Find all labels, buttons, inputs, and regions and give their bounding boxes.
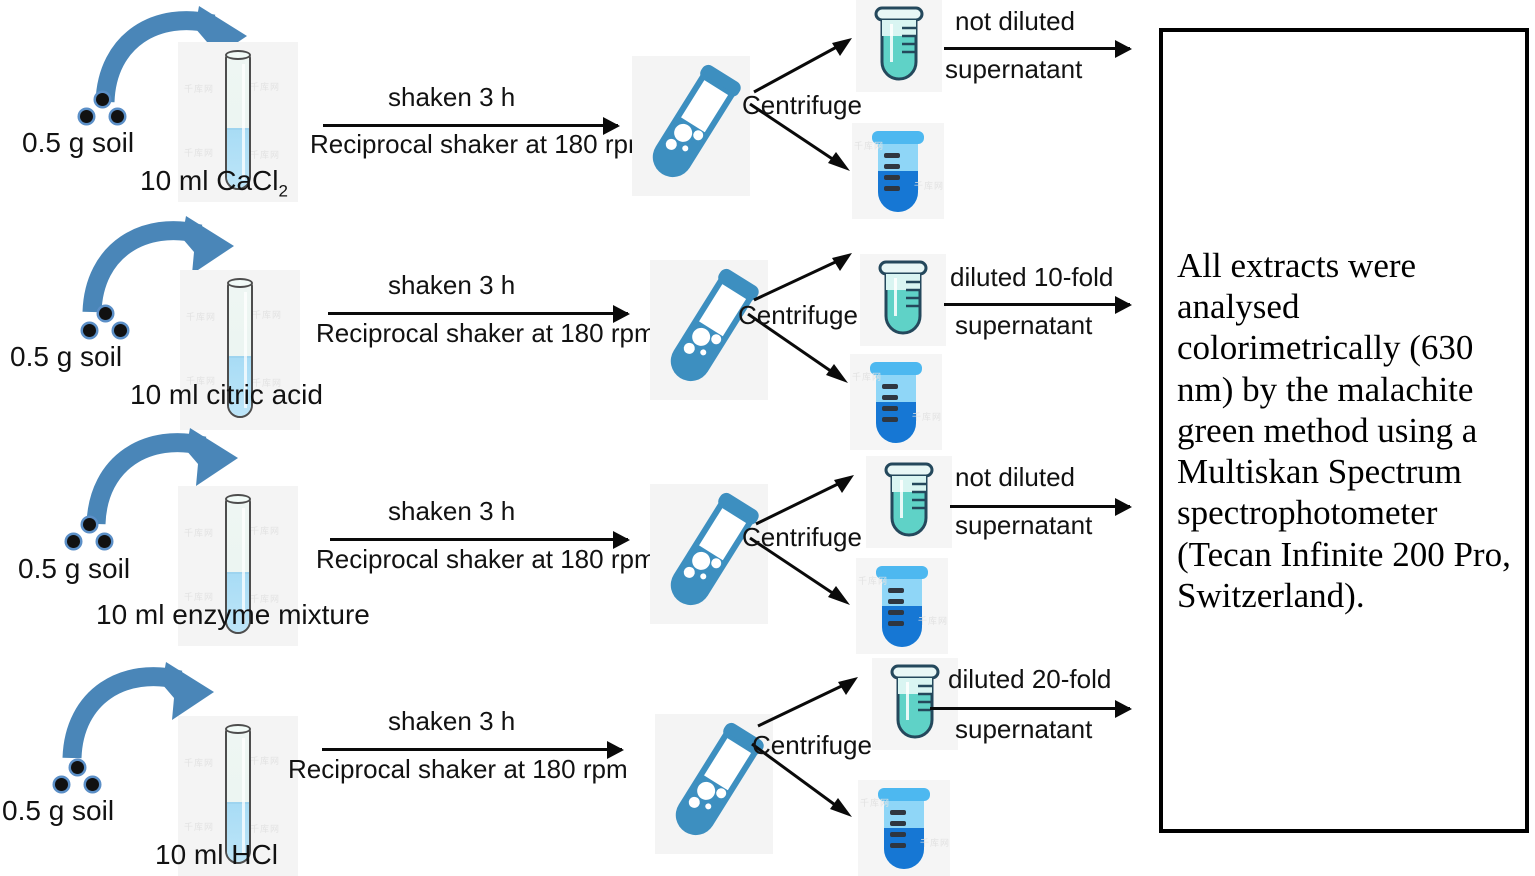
row-hcl: 0.5 g soil 千库网 千库网 千库网 千库网 10 ml HCl sha… — [0, 648, 1160, 875]
reagent-label-main: 10 ml HCl — [155, 839, 278, 870]
supernatant-test-tube-icon — [860, 254, 946, 346]
split-arrow-supernatant — [756, 670, 868, 728]
workflow-diagram: 0.5 g soil 千库网 千库网 千库网 千库网 10 ml CaCl2 s… — [0, 0, 1535, 875]
soil-label: 0.5 g soil — [18, 554, 130, 583]
pellet-test-tube-icon: 千库网 千库网 — [856, 558, 948, 654]
supernatant-test-tube-icon — [856, 0, 942, 92]
process-arrow-to-box — [944, 303, 1130, 306]
split-arrow-supernatant — [752, 248, 862, 302]
pellet-test-tube-icon: 千库网 千库网 — [852, 123, 944, 219]
process-arrow-to-box — [944, 47, 1130, 50]
process-arrow-shaking — [330, 538, 628, 541]
centrifuge-label: Centrifuge — [738, 302, 858, 329]
process-arrow-to-box — [950, 505, 1130, 508]
process-arrow-to-box — [930, 707, 1130, 710]
reagent-label: 10 ml CaCl2 — [140, 166, 288, 200]
supernatant-test-tube-icon — [872, 658, 958, 750]
reagent-label-main: 10 ml CaCl — [140, 165, 278, 196]
split-arrow-supernatant — [754, 470, 864, 526]
dilution-bottom-label: supernatant — [945, 56, 1082, 83]
reagent-label: 10 ml citric acid — [130, 380, 323, 414]
pellet-test-tube-icon: 千库网 千库网 — [858, 780, 950, 876]
reagent-label-subscript: 2 — [278, 182, 287, 201]
reagent-label-main: 10 ml enzyme mixture — [96, 599, 370, 630]
process-arrow-shaking — [323, 124, 618, 127]
dilution-bottom-label: supernatant — [955, 512, 1092, 539]
shaking-top-label: shaken 3 h — [388, 84, 515, 111]
shaking-top-label: shaken 3 h — [388, 498, 515, 525]
row-citric-acid: 0.5 g soil 千库网 千库网 千库网 千库网 10 ml citric … — [0, 212, 1160, 430]
centrifuge-label: Centrifuge — [752, 732, 872, 759]
reagent-label: 10 ml HCl — [155, 840, 278, 874]
shaking-bottom-label: Reciprocal shaker at 180 rpm — [316, 320, 656, 347]
dilution-top-label: not diluted — [955, 8, 1075, 35]
dilution-bottom-label: supernatant — [955, 716, 1092, 743]
soil-label: 0.5 g soil — [2, 796, 114, 825]
analysis-info-box: All extracts were analysed colorimetrica… — [1159, 28, 1529, 833]
dilution-top-label: not diluted — [955, 464, 1075, 491]
soil-label: 0.5 g soil — [10, 342, 122, 371]
process-arrow-shaking — [322, 748, 622, 751]
dilution-bottom-label: supernatant — [955, 312, 1092, 339]
soil-particles-icon — [62, 518, 118, 558]
split-arrow-supernatant — [752, 32, 862, 94]
reagent-label-main: 10 ml citric acid — [130, 379, 323, 410]
dilution-top-label: diluted 20-fold — [948, 666, 1111, 693]
shaking-bottom-label: Reciprocal shaker at 180 rpm — [310, 131, 650, 158]
supernatant-test-tube-icon — [866, 456, 952, 548]
centrifuge-label: Centrifuge — [742, 92, 862, 119]
tilted-mixed-test-tube-icon — [632, 56, 750, 196]
analysis-info-text: All extracts were analysed colorimetrica… — [1163, 245, 1525, 617]
shaking-top-label: shaken 3 h — [388, 272, 515, 299]
shaking-bottom-label: Reciprocal shaker at 180 rpm — [288, 756, 628, 783]
centrifuge-label: Centrifuge — [742, 524, 862, 551]
reagent-label: 10 ml enzyme mixture — [96, 600, 370, 634]
row-enzyme-mixture: 0.5 g soil 千库网 千库网 千库网 千库网 10 ml enzyme … — [0, 418, 1160, 648]
shaking-bottom-label: Reciprocal shaker at 180 rpm — [316, 546, 656, 573]
process-arrow-shaking — [328, 312, 628, 315]
soil-label: 0.5 g soil — [22, 128, 134, 157]
shaking-top-label: shaken 3 h — [388, 708, 515, 735]
row-cacl2: 0.5 g soil 千库网 千库网 千库网 千库网 10 ml CaCl2 s… — [0, 0, 1160, 215]
dilution-top-label: diluted 10-fold — [950, 264, 1113, 291]
